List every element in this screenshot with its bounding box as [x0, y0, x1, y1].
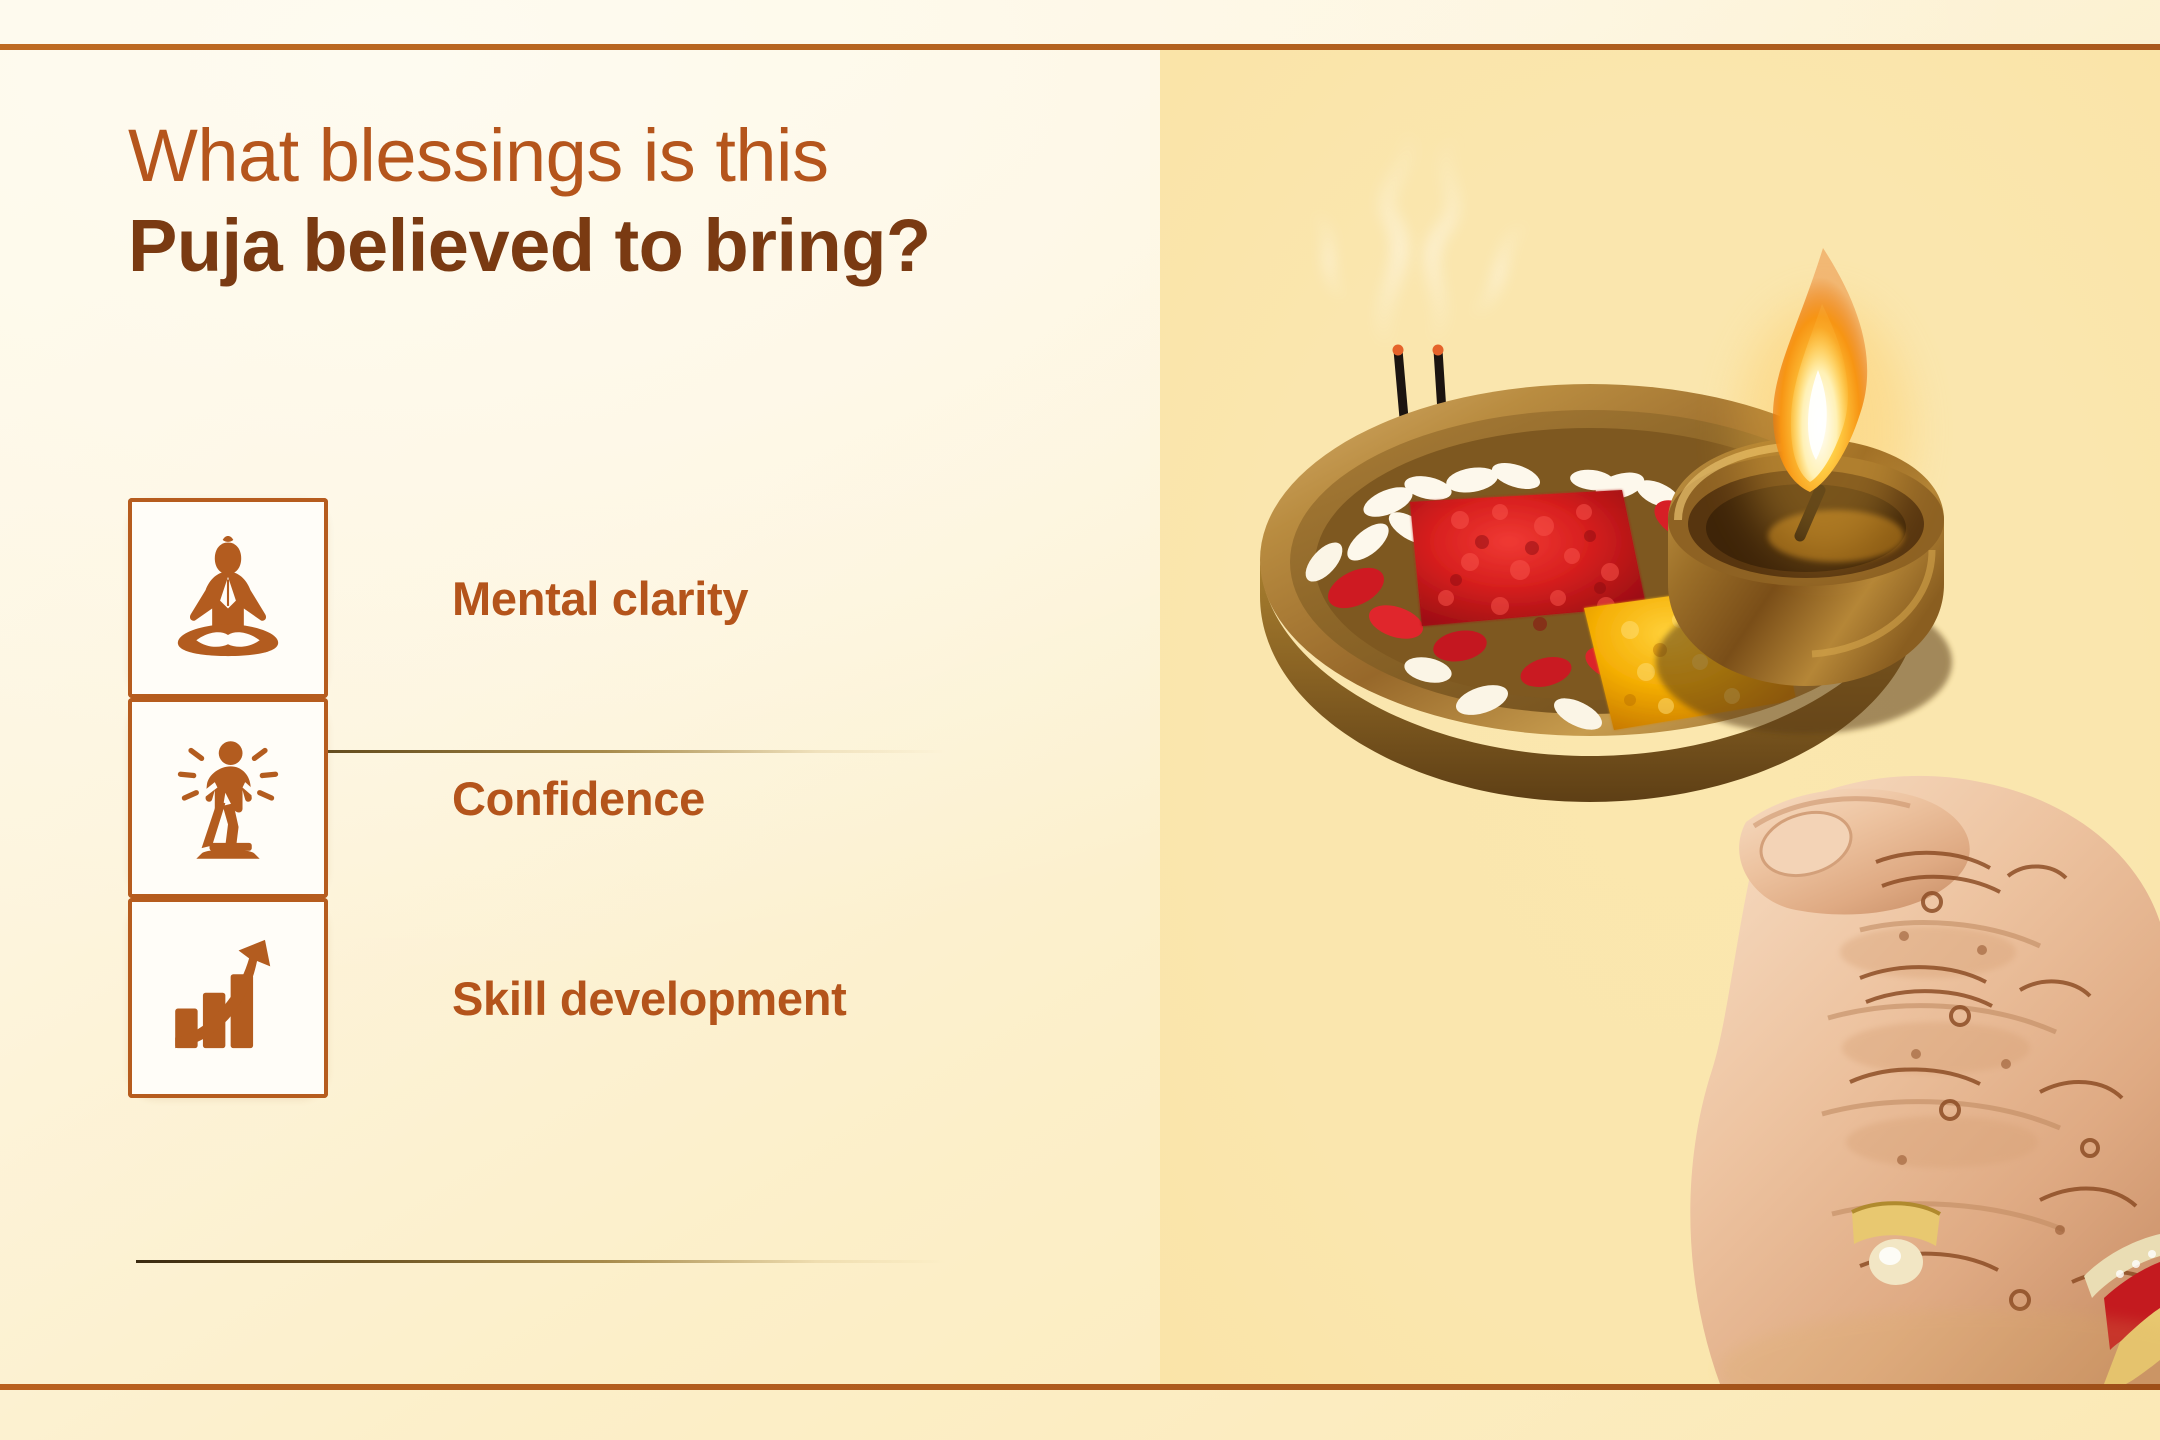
benefit-item-mental-clarity[interactable]: Mental clarity — [128, 498, 988, 698]
benefit-icon-frame — [128, 698, 328, 898]
benefit-icon-frame — [128, 898, 328, 1098]
page-title-line-1: What blessings is this — [128, 116, 1408, 196]
page-title-line-2: Puja believed to bring? — [128, 206, 1408, 286]
page-title: What blessings is this Puja believed to … — [128, 116, 1408, 286]
confident-person-pedestal-icon — [162, 732, 294, 864]
bottom-rule — [0, 1384, 2160, 1390]
growth-chart-arrow-icon — [162, 932, 294, 1064]
benefit-label: Skill development — [452, 971, 847, 1026]
poster-canvas: What blessings is this Puja believed to … — [0, 0, 2160, 1440]
benefit-label: Mental clarity — [452, 571, 748, 626]
benefit-item-confidence[interactable]: Confidence — [128, 698, 988, 898]
benefit-item-skill-development[interactable]: Skill development — [128, 898, 988, 1098]
benefits-list: Mental clarity — [128, 498, 988, 1098]
benefit-icon-frame — [128, 498, 328, 698]
benefit-divider — [136, 1260, 946, 1263]
mehndi-hand — [1690, 776, 2160, 1384]
meditation-lotus-icon — [162, 532, 294, 664]
benefit-label: Confidence — [452, 771, 705, 826]
